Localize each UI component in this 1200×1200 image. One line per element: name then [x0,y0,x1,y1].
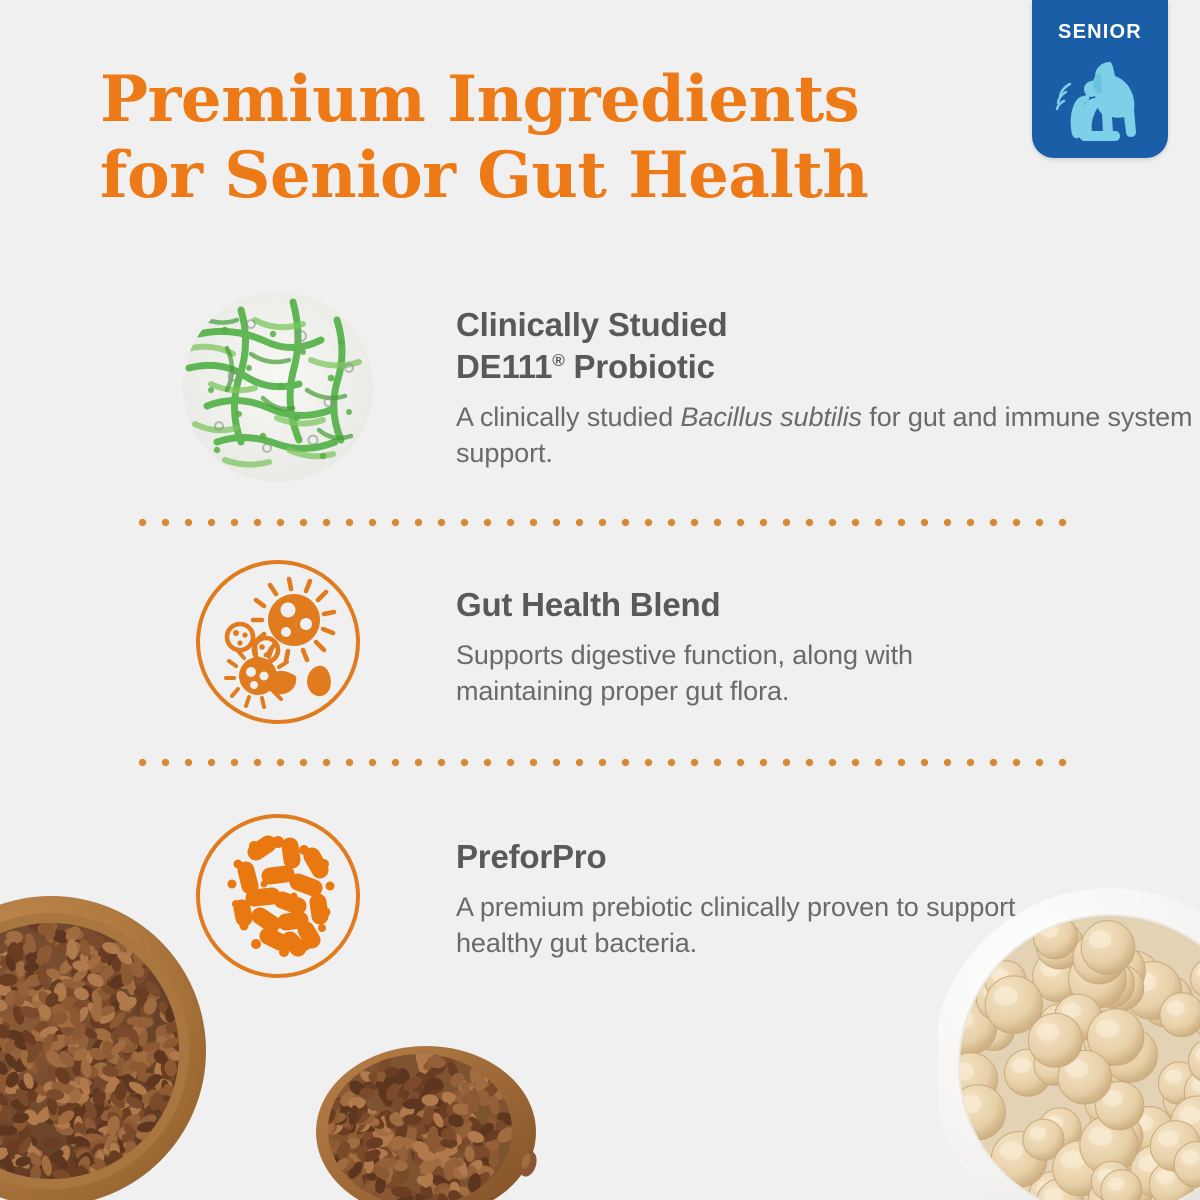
section-divider-2 [138,758,1068,767]
stray-flax-seed [516,1148,540,1180]
feature-1-body: A clinically studied Bacillus subtilis f… [456,400,1200,472]
page-title-line-1: Premium Ingredients [100,62,1000,138]
feature-item-preforpro: PreforPro A premium prebiotic clinically… [178,812,1026,980]
senior-badge: SENIOR [1032,0,1168,158]
feature-2-body: Supports digestive function, along with … [456,638,996,710]
section-divider-1 [138,518,1068,527]
feature-1-heading-de111: DE111 [456,348,552,385]
feature-1-heading-line-2: DE111® Probiotic [456,346,1200,388]
registered-trademark-icon: ® [552,351,564,370]
feature-2-icon-wrap [178,558,378,726]
feature-1-text: Clinically Studied DE111® Probiotic A cl… [456,302,1200,472]
feature-1-body-species: Bacillus subtilis [681,402,862,432]
feature-3-icon-wrap [178,812,378,980]
infographic-canvas: SENIOR Premium Ingredients for Senior [0,0,1200,1200]
page-title-line-2: for Senior Gut Health [100,138,1000,214]
feature-1-heading: Clinically Studied DE111® Probiotic [456,304,1200,388]
feature-3-heading: PreforPro [456,836,1026,878]
feature-2-heading: Gut Health Blend [456,584,996,626]
feature-1-heading-probiotic: Probiotic [565,348,715,385]
feature-1-body-pre: A clinically studied [456,402,681,432]
feature-1-heading-line-1: Clinically Studied [456,304,1200,346]
feature-item-gut-health-blend: Gut Health Blend Supports digestive func… [178,558,996,726]
feature-item-de111: Clinically Studied DE111® Probiotic A cl… [178,290,1200,484]
gut-microbes-circle-icon [194,558,362,726]
page-title: Premium Ingredients for Senior Gut Healt… [100,62,1000,213]
chickpea-white-bowl [938,888,1200,1200]
prebiotic-cluster-circle-icon [194,812,362,980]
senior-badge-label: SENIOR [1058,22,1142,42]
sitting-dog-icon [1048,46,1152,150]
feature-1-icon-wrap [178,290,378,484]
bacteria-micrograph-icon [181,290,375,484]
feature-2-text: Gut Health Blend Supports digestive func… [456,582,996,710]
flax-seed-wooden-bowl [0,886,206,1200]
